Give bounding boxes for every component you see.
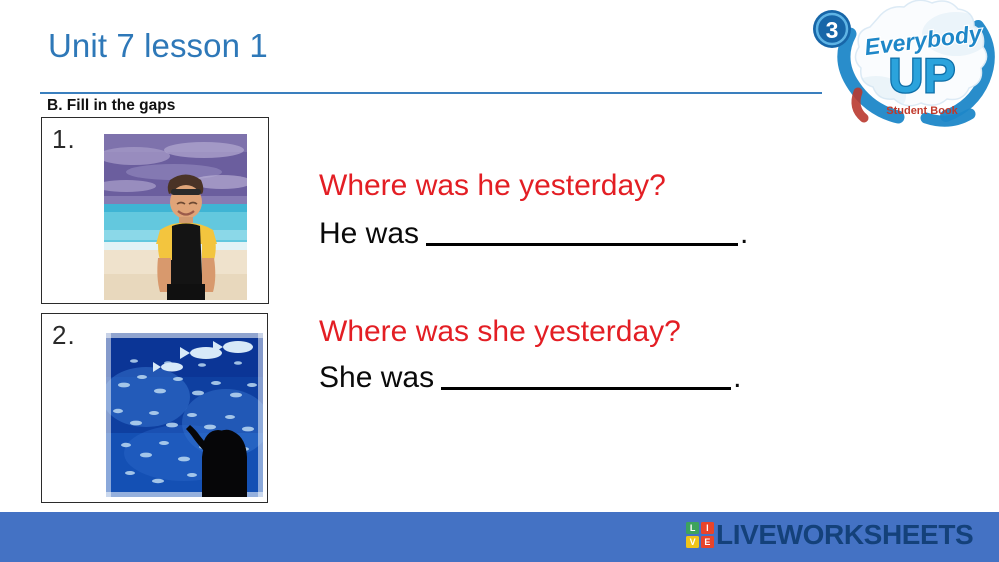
worksheet-slide: Unit 7 lesson 1 Everybody UP [0,0,999,562]
svg-text:UP: UP [889,50,956,103]
logo-tile-i: I [701,522,714,534]
answer-row-1: He was . [319,216,748,251]
title-divider [40,92,822,94]
answer-row-2: She was . [319,360,741,395]
question-text-2: Where was she yesterday? [319,314,741,349]
logo-tile-e: E [701,536,714,548]
answer-suffix-1: . [740,216,748,251]
picture-cell-2: 2. [41,313,268,503]
everybody-up-logo: Everybody UP Student Book 3 [806,0,999,130]
svg-text:Student Book: Student Book [886,105,958,117]
answer-prefix-1: He was [319,216,419,251]
svg-text:3: 3 [826,17,839,43]
answer-prefix-2: She was [319,360,434,395]
exercise-2: Where was she yesterday? She was . [319,314,741,396]
item-number-2: 2. [52,320,76,351]
picture-cell-1: 1. [41,117,269,304]
answer-suffix-2: . [733,360,741,395]
answer-blank-1[interactable] [426,243,738,246]
answer-blank-2[interactable] [441,387,731,390]
liveworksheets-tiles-icon: L I V E [686,522,714,548]
question-text-1: Where was he yesterday? [319,168,748,203]
picture-girl-at-the-aquarium [106,333,263,497]
logo-tile-v: V [686,536,699,548]
liveworksheets-wordmark: LIVEWORKSHEETS [716,519,973,551]
exercise-1: Where was he yesterday? He was . [319,168,748,252]
liveworksheets-logo[interactable]: L I V E LIVEWORKSHEETS [686,519,973,551]
page-title: Unit 7 lesson 1 [48,27,268,65]
section-heading: B. Fill in the gaps [47,97,175,115]
logo-tile-l: L [686,522,699,534]
item-number-1: 1. [52,124,76,155]
picture-boy-at-the-beach [104,134,247,300]
